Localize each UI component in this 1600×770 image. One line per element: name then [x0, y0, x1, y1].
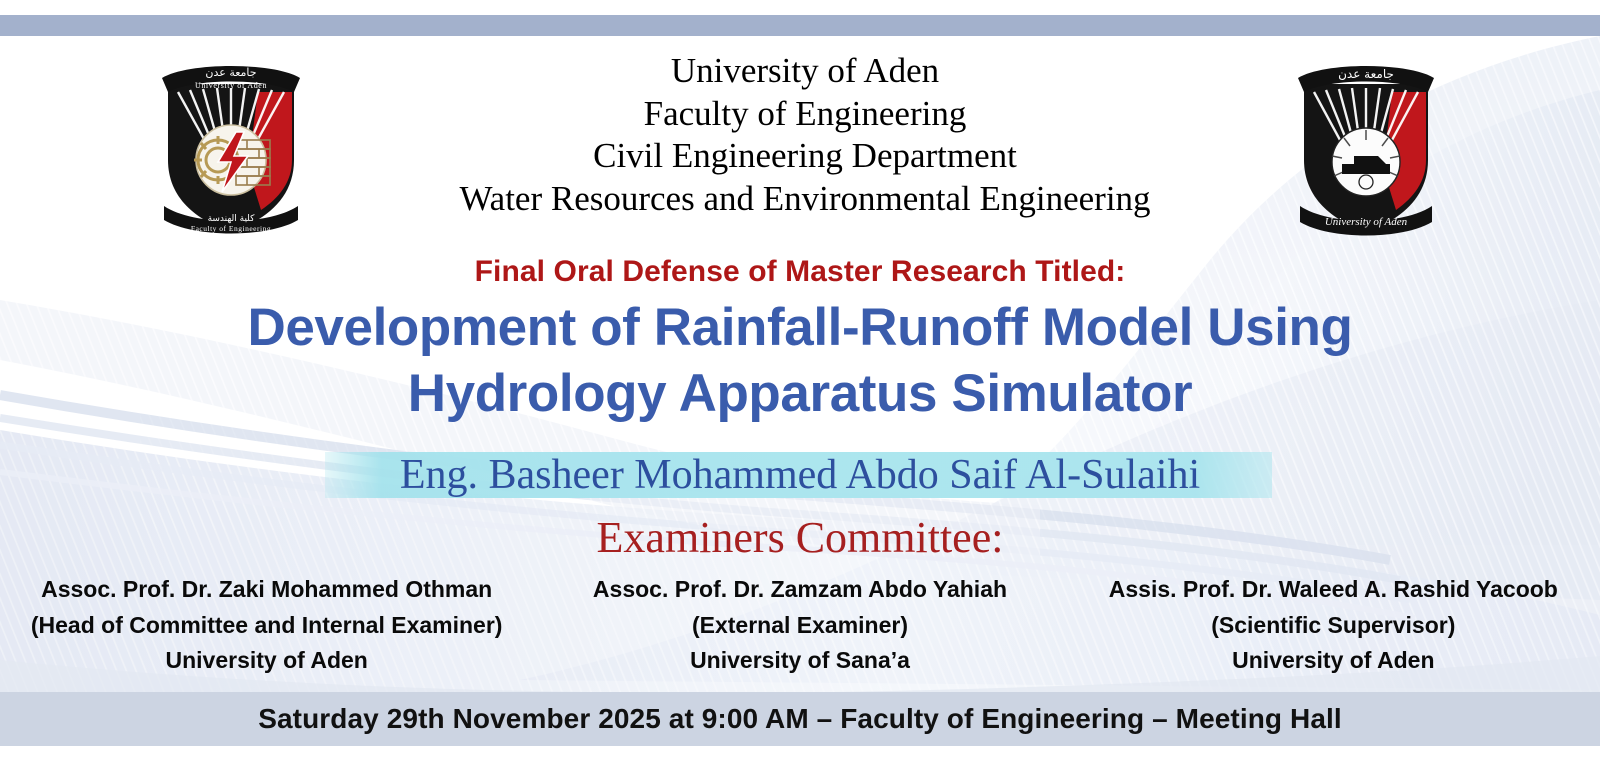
header-line-department: Civil Engineering Department	[340, 135, 1270, 178]
svg-text:جامعة عدن: جامعة عدن	[1338, 67, 1394, 81]
committee-member: Assoc. Prof. Dr. Zaki Mohammed Othman (H…	[0, 572, 533, 679]
svg-text:كلية الهندسة: كلية الهندسة	[208, 214, 256, 224]
research-title-line-2: Hydrology Apparatus Simulator	[0, 361, 1600, 427]
svg-text:Faculty of Engineering: Faculty of Engineering	[191, 224, 271, 233]
event-details-footer-bar: Saturday 29th November 2025 at 9:00 AM –…	[0, 692, 1600, 746]
institution-header: University of Aden Faculty of Engineerin…	[340, 50, 1270, 220]
committee-member-name: Assis. Prof. Dr. Waleed A. Rashid Yacoob	[1073, 572, 1594, 608]
committee-member-role: (External Examiner)	[539, 608, 1060, 644]
committee-member: Assis. Prof. Dr. Waleed A. Rashid Yacoob…	[1067, 572, 1600, 679]
defense-announcement-poster: جامعة عدن University of Aden	[0, 0, 1600, 770]
event-details-text: Saturday 29th November 2025 at 9:00 AM –…	[258, 703, 1342, 735]
university-of-aden-crest-icon: جامعة عدن University of Aden	[1286, 48, 1446, 238]
committee-member-affiliation: University of Sana’a	[539, 643, 1060, 679]
committee-member-role: (Scientific Supervisor)	[1073, 608, 1594, 644]
committee-member-affiliation: University of Aden	[1073, 643, 1594, 679]
candidate-name: Eng. Basheer Mohammed Abdo Saif Al-Sulai…	[0, 449, 1600, 501]
svg-text:University of Aden: University of Aden	[195, 81, 267, 90]
examiners-committee-list: Assoc. Prof. Dr. Zaki Mohammed Othman (H…	[0, 572, 1600, 679]
defense-kicker-text: Final Oral Defense of Master Research Ti…	[0, 253, 1600, 291]
faculty-of-engineering-crest-icon: جامعة عدن University of Aden	[148, 48, 314, 238]
examiners-committee-heading: Examiners Committee:	[0, 512, 1600, 564]
committee-member-role: (Head of Committee and Internal Examiner…	[6, 608, 527, 644]
svg-text:University of Aden: University of Aden	[1325, 216, 1408, 228]
committee-member-affiliation: University of Aden	[6, 643, 527, 679]
committee-member-name: Assoc. Prof. Dr. Zaki Mohammed Othman	[6, 572, 527, 608]
research-title: Development of Rainfall-Runoff Model Usi…	[0, 295, 1600, 427]
header-line-program: Water Resources and Environmental Engine…	[340, 178, 1270, 221]
committee-member: Assoc. Prof. Dr. Zamzam Abdo Yahiah (Ext…	[533, 572, 1066, 679]
top-decorative-bar	[0, 15, 1600, 36]
header-line-university: University of Aden	[340, 50, 1270, 93]
bottom-edge-strip	[0, 766, 1600, 770]
research-title-line-1: Development of Rainfall-Runoff Model Usi…	[0, 295, 1600, 361]
committee-member-name: Assoc. Prof. Dr. Zamzam Abdo Yahiah	[539, 572, 1060, 608]
header-line-faculty: Faculty of Engineering	[340, 93, 1270, 136]
svg-text:جامعة عدن: جامعة عدن	[205, 66, 256, 79]
